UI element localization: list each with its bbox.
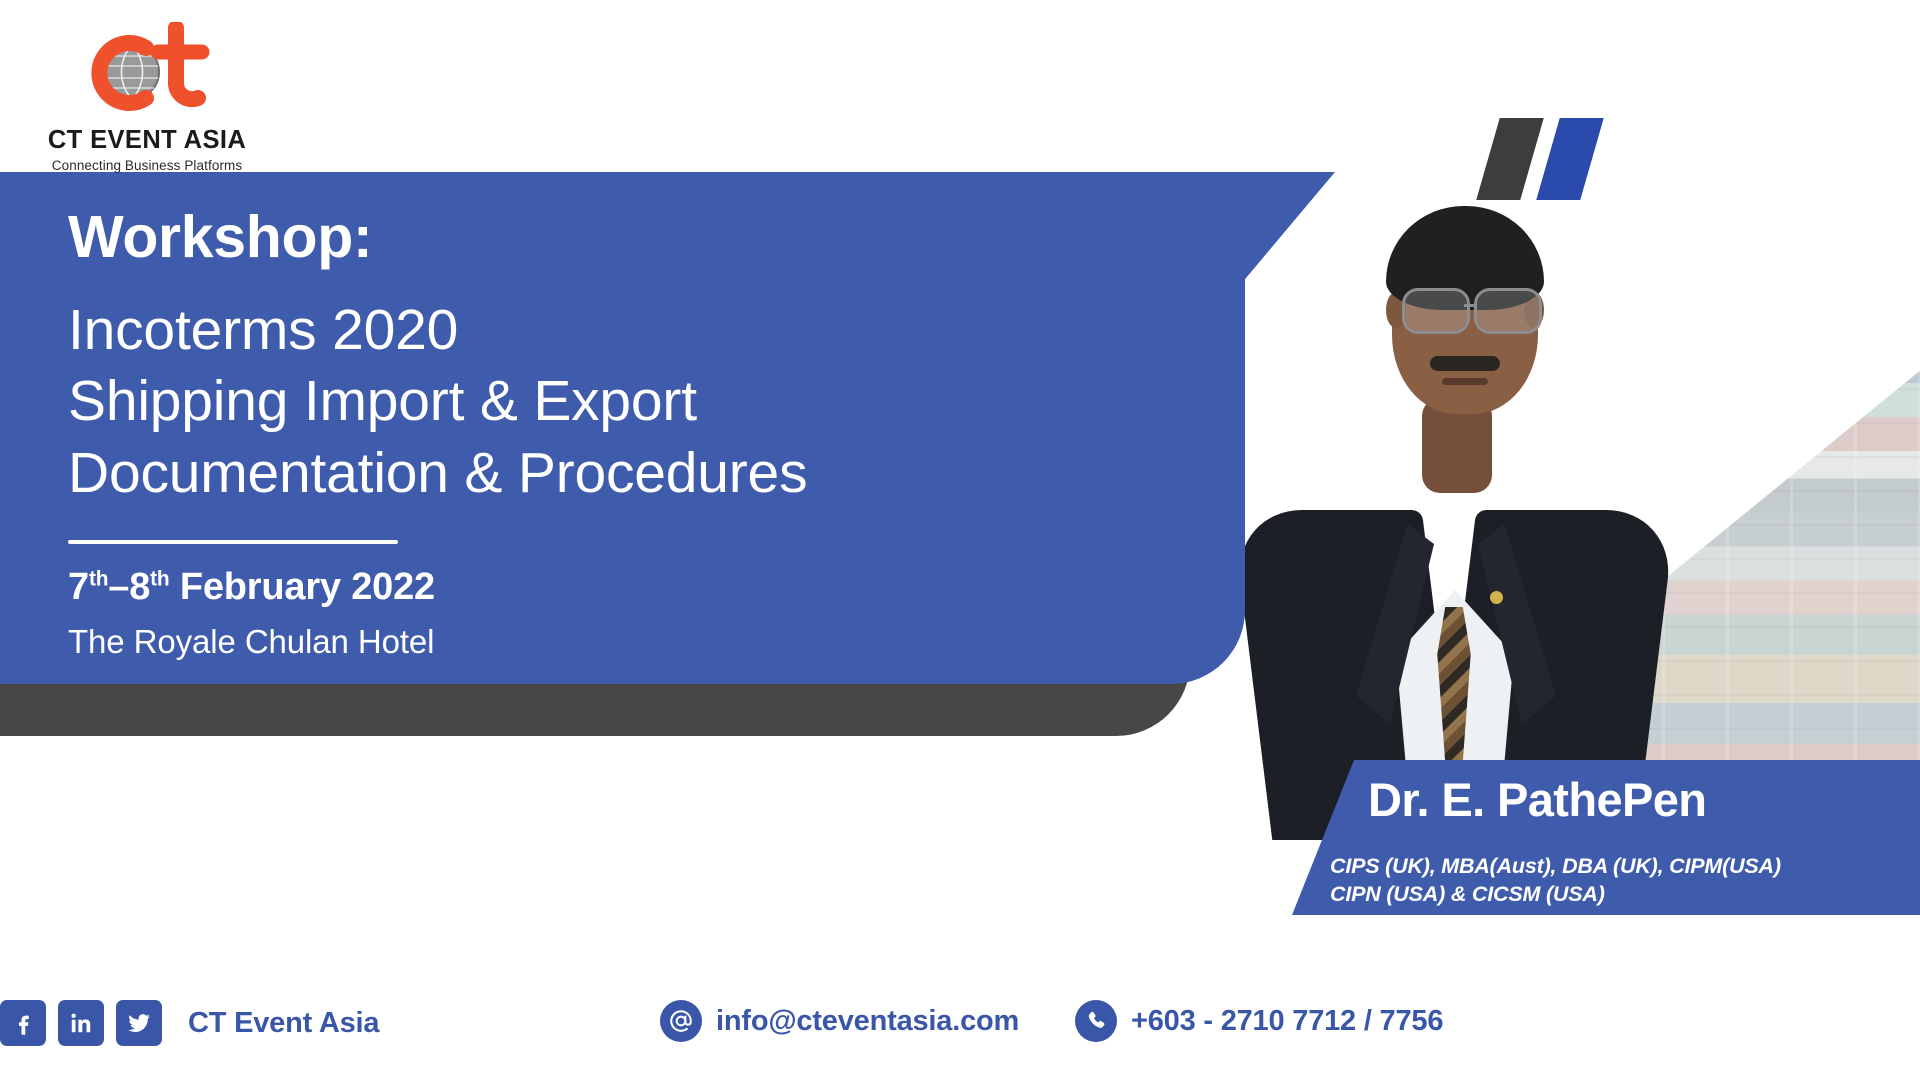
date-month-year: February 2022 xyxy=(169,566,434,608)
date-day-end: 8 xyxy=(129,566,150,608)
divider-rule xyxy=(68,540,398,544)
linkedin-icon[interactable] xyxy=(58,1000,104,1046)
speaker-credentials: CIPS (UK), MBA(Aust), DBA (UK), CIPM(USA… xyxy=(1330,852,1920,909)
ct-lettermark-icon xyxy=(72,22,222,127)
contact-footer: info@cteventasia.com +603 - 2710 7712 / … xyxy=(0,1000,1920,1066)
eyeglass-lens-left xyxy=(1402,288,1470,334)
speaker-portrait xyxy=(1246,160,1666,840)
social-handle: CT Event Asia xyxy=(188,1007,379,1040)
eyeglass-lens-right xyxy=(1474,288,1542,334)
logo-wordmark: CT EVENT ASIA xyxy=(32,126,262,155)
facebook-icon[interactable] xyxy=(0,1000,46,1046)
twitter-icon[interactable] xyxy=(116,1000,162,1046)
mouth xyxy=(1442,378,1488,385)
title-line-2: Shipping Import & Export xyxy=(68,366,1048,438)
credentials-line-2: CIPN (USA) & CICSM (USA) xyxy=(1330,880,1920,908)
date-ordinal-start: th xyxy=(89,567,108,590)
phone-number: +603 - 2710 7712 / 7756 xyxy=(1131,1005,1443,1038)
title-line-1: Incoterms 2020 xyxy=(68,295,1048,367)
email-contact[interactable]: info@cteventasia.com xyxy=(660,1000,1019,1042)
email-address: info@cteventasia.com xyxy=(716,1005,1019,1038)
phone-icon xyxy=(1075,1000,1117,1042)
poster-canvas: CT EVENT ASIA Connecting Business Platfo… xyxy=(0,0,1920,1080)
lapel-pin-icon xyxy=(1490,591,1503,604)
headline-block: Workshop: Incoterms 2020 Shipping Import… xyxy=(68,206,1048,661)
moustache xyxy=(1430,356,1500,371)
logo-tagline: Connecting Business Platforms xyxy=(32,158,262,173)
credentials-line-1: CIPS (UK), MBA(Aust), DBA (UK), CIPM(USA… xyxy=(1330,852,1920,880)
speaker-name: Dr. E. PathePen xyxy=(1368,772,1920,827)
event-venue: The Royale Chulan Hotel xyxy=(68,623,1048,661)
workshop-kicker: Workshop: xyxy=(68,206,1048,269)
title-line-3: Documentation & Procedures xyxy=(68,438,1048,510)
eyeglass-bridge xyxy=(1464,304,1476,307)
phone-contact[interactable]: +603 - 2710 7712 / 7756 xyxy=(1075,1000,1443,1042)
date-ordinal-end: th xyxy=(150,567,169,590)
at-sign-icon xyxy=(660,1000,702,1042)
date-dash: – xyxy=(108,566,129,608)
event-date: 7th–8th February 2022 xyxy=(68,566,1048,609)
ct-event-asia-logo[interactable]: CT EVENT ASIA Connecting Business Platfo… xyxy=(32,18,262,178)
date-day-start: 7 xyxy=(68,566,89,608)
